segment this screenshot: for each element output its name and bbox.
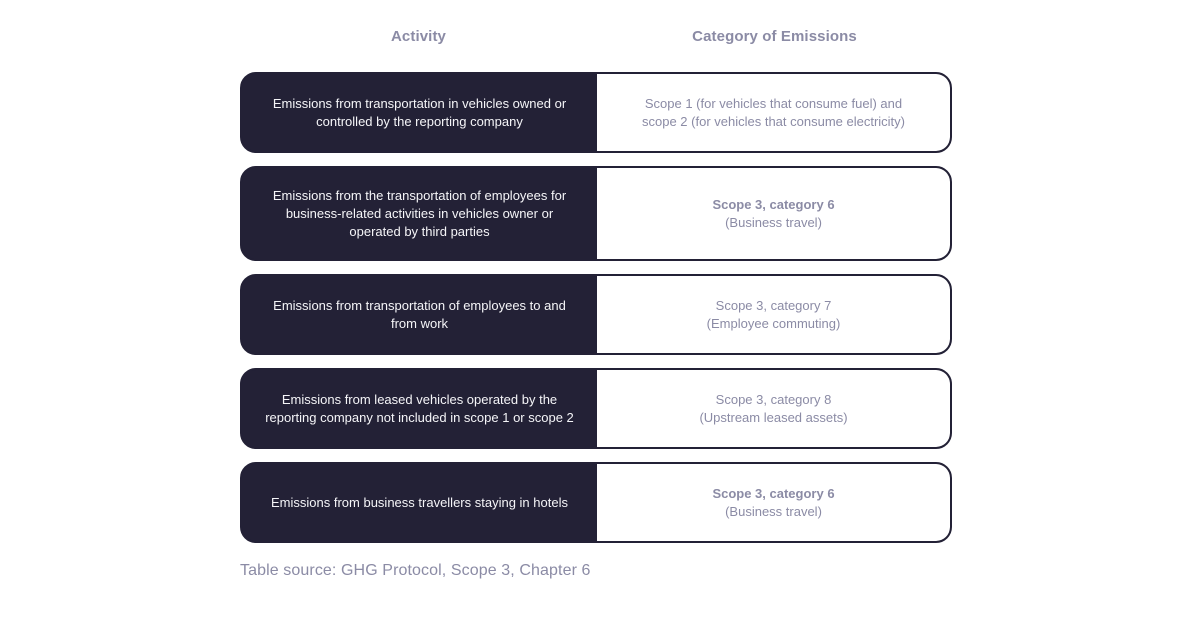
cell-activity: Emissions from transportation of employe… [242,276,597,353]
cell-category: Scope 3, category 7 (Employee commuting) [597,276,950,353]
category-main-text: Scope 3, category 6 [712,196,834,214]
page: Activity Category of Emissions Emissions… [0,0,1193,618]
activity-text: Emissions from business travellers stayi… [271,494,568,512]
cell-category: Scope 1 (for vehicles that consume fuel)… [597,74,950,151]
column-header-activity: Activity [240,28,597,45]
table-row: Emissions from transportation in vehicle… [240,72,952,153]
column-header-category: Category of Emissions [597,28,952,45]
category-main-text: Scope 1 (for vehicles that consume fuel)… [645,95,902,113]
cell-category: Scope 3, category 6 (Business travel) [597,464,950,541]
category-main-text: Scope 3, category 8 [716,391,832,409]
category-main-text: Scope 3, category 7 [716,297,832,315]
table-source-caption: Table source: GHG Protocol, Scope 3, Cha… [240,562,591,580]
cell-activity: Emissions from the transportation of emp… [242,168,597,259]
cell-category: Scope 3, category 6 (Business travel) [597,168,950,259]
category-sub-text: (Employee commuting) [707,315,841,333]
category-sub-text: (Business travel) [725,503,822,521]
activity-text: Emissions from transportation of employe… [260,297,579,333]
category-main-text: Scope 3, category 6 [712,485,834,503]
cell-category: Scope 3, category 8 (Upstream leased ass… [597,370,950,447]
table-header-row: Activity Category of Emissions [240,0,952,72]
table-row: Emissions from transportation of employe… [240,274,952,355]
table-row: Emissions from leased vehicles operated … [240,368,952,449]
emissions-table: Activity Category of Emissions Emissions… [240,0,952,556]
table-row: Emissions from the transportation of emp… [240,166,952,261]
activity-text: Emissions from transportation in vehicle… [260,95,579,131]
table-row: Emissions from business travellers stayi… [240,462,952,543]
cell-activity: Emissions from transportation in vehicle… [242,74,597,151]
category-sub-text: (Upstream leased assets) [699,409,847,427]
cell-activity: Emissions from leased vehicles operated … [242,370,597,447]
cell-activity: Emissions from business travellers stayi… [242,464,597,541]
activity-text: Emissions from the transportation of emp… [260,187,579,241]
activity-text: Emissions from leased vehicles operated … [260,391,579,427]
category-sub-text: scope 2 (for vehicles that consume elect… [642,113,905,131]
category-sub-text: (Business travel) [725,214,822,232]
